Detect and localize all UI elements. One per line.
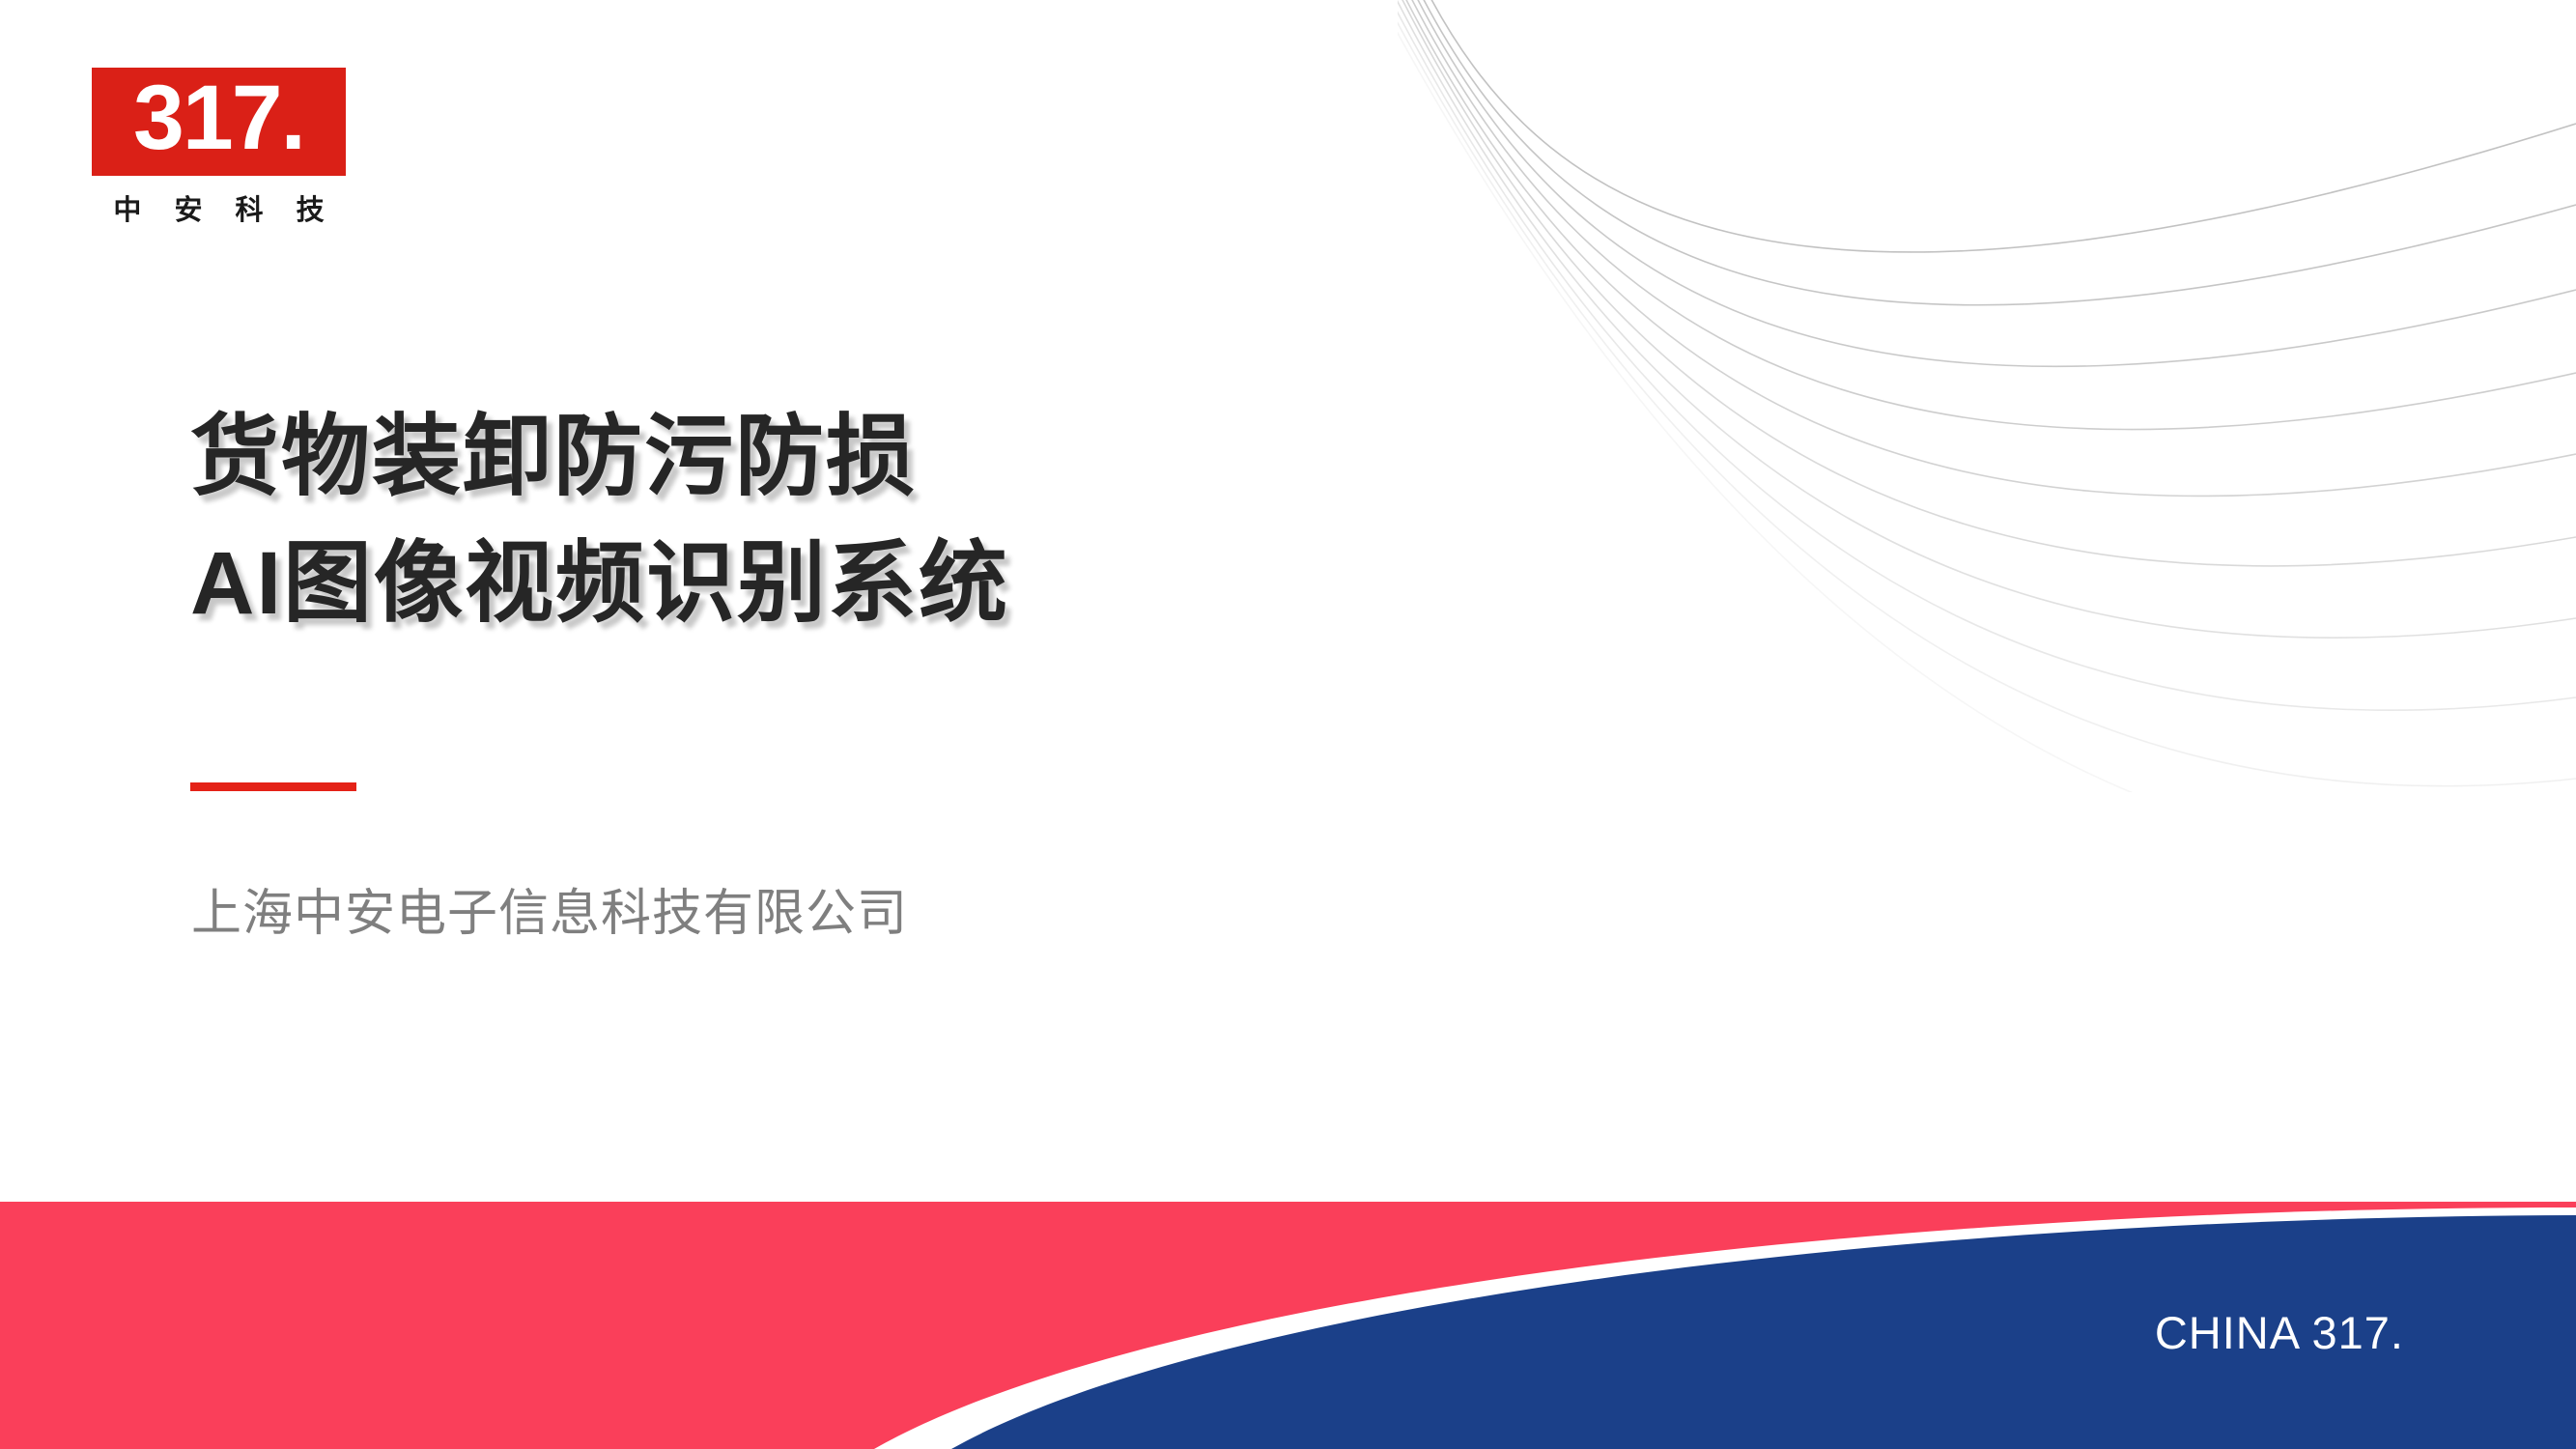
red-divider xyxy=(190,782,356,791)
title-line-2: AI图像视频识别系统 xyxy=(190,521,1446,647)
banner-brand-label: CHINA 317. xyxy=(2155,1306,2404,1359)
swoosh-svg xyxy=(1398,0,2576,792)
title-line-1: 货物装卸防污防损 xyxy=(190,394,1446,521)
bottom-banner: CHINA 317. xyxy=(0,1202,2576,1449)
page-title: 货物装卸防污防损 AI图像视频识别系统 xyxy=(190,394,1446,646)
logo-company-short: 中 安 科 技 xyxy=(92,187,346,228)
logo-mark-text: 317. xyxy=(133,72,304,164)
decorative-swoosh-lines xyxy=(1398,0,2576,792)
slide-canvas: 317. 中 安 科 技 货物装卸防污防损 AI图像视频识别系统 上海中安电子信… xyxy=(0,0,2576,1449)
company-name-subtitle: 上海中安电子信息科技有限公司 xyxy=(191,872,908,945)
logo-mark-317: 317. xyxy=(92,68,346,176)
company-logo: 317. 中 安 科 技 xyxy=(92,68,353,228)
